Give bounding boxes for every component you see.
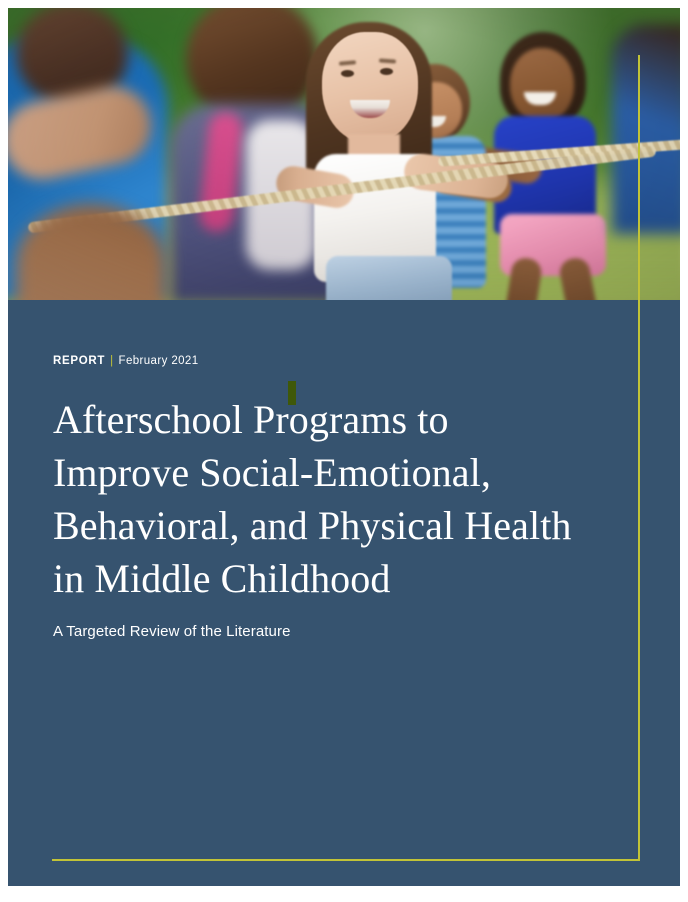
cover-text-block: REPORT|February 2021 Afterschool Program… (53, 355, 613, 640)
page-title: Afterschool Programs to Improve Social-E… (53, 393, 613, 605)
title-line-1: Afterschool Programs to (53, 397, 449, 442)
page-subtitle: A Targeted Review of the Literature (53, 623, 613, 640)
report-issue-date: February 2021 (119, 355, 199, 367)
meta-separator: | (105, 355, 118, 367)
horizontal-accent-rule (52, 859, 640, 861)
title-line-4: in Middle Childhood (53, 556, 390, 601)
title-line-3: Behavioral, and Physical Health (53, 503, 572, 548)
title-line-2: Improve Social-Emotional, (53, 450, 491, 495)
vertical-accent-rule (638, 55, 640, 860)
cover-photo (8, 8, 680, 300)
report-meta-line: REPORT|February 2021 (53, 355, 613, 367)
photo-vignette (8, 8, 680, 300)
report-cover-page: REPORT|February 2021 Afterschool Program… (0, 0, 688, 902)
report-kicker: REPORT (53, 355, 105, 367)
